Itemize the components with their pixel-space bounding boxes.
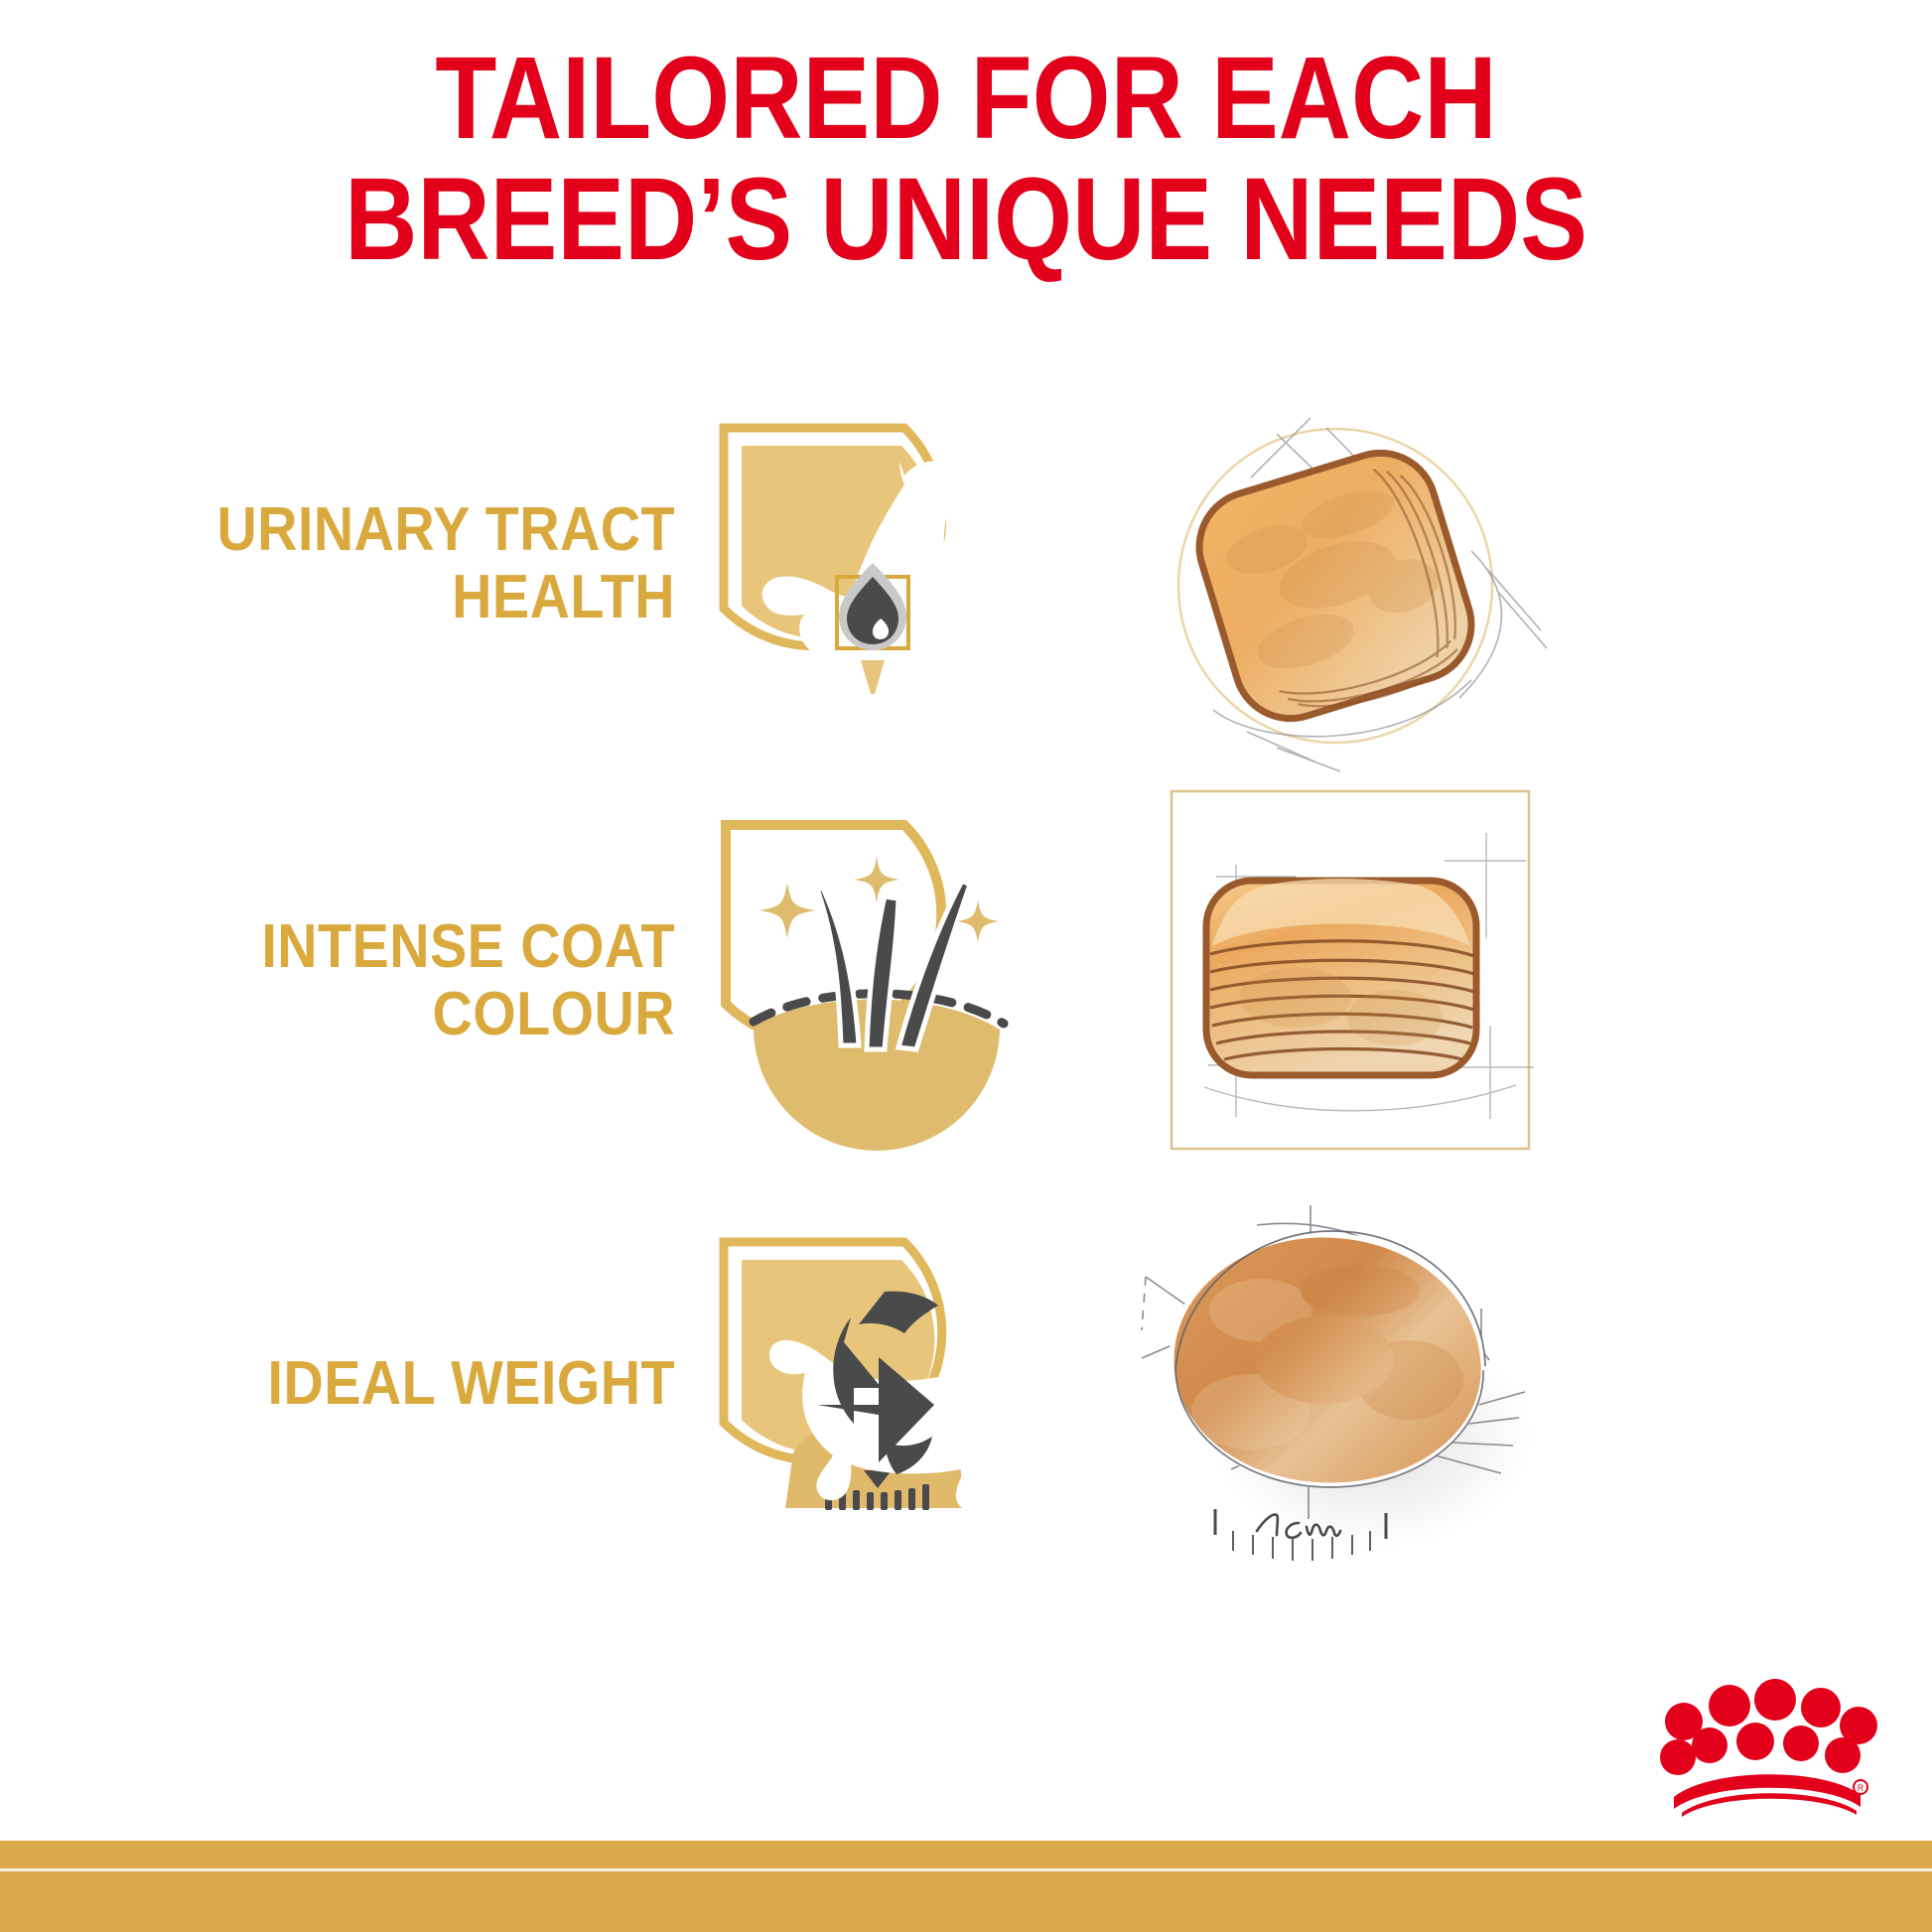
kibble-rotated-square xyxy=(1102,382,1569,779)
feature-label-line-2: COLOUR xyxy=(157,981,675,1048)
urinary-tract-health-icon xyxy=(710,414,1037,742)
feature-row-urinary-tract-health: URINARY TRACT HEALTH xyxy=(0,392,1932,745)
kibble-rounded-oval xyxy=(1112,1181,1579,1579)
poster-canvas: TAILORED FOR EACH BREED’S UNIQUE NEEDS U… xyxy=(0,0,1932,1932)
kibble-ridged-block xyxy=(1117,769,1584,1167)
svg-text:R: R xyxy=(1858,1783,1864,1793)
feature-row-ideal-weight: IDEAL WEIGHT xyxy=(0,1206,1932,1559)
page-title-line-2: BREED’S UNIQUE NEEDS xyxy=(135,159,1797,280)
registered-trademark-icon: R xyxy=(1854,1780,1867,1794)
page-title-line-1: TAILORED FOR EACH xyxy=(135,38,1797,159)
feature-label-line-2: HEALTH xyxy=(157,564,675,631)
ideal-weight-icon xyxy=(710,1228,1037,1556)
feature-label-ideal-weight: IDEAL WEIGHT xyxy=(157,1350,675,1418)
feature-label-line-1: URINARY TRACT xyxy=(157,496,675,564)
feature-label-line-1: IDEAL WEIGHT xyxy=(157,1350,675,1418)
page-title: TAILORED FOR EACH BREED’S UNIQUE NEEDS xyxy=(135,38,1797,280)
bar-hairline xyxy=(0,1868,1932,1871)
feature-label-urinary-tract-health: URINARY TRACT HEALTH xyxy=(157,496,675,631)
feature-row-intense-coat-colour: INTENSE COAT COLOUR xyxy=(0,799,1932,1152)
feature-list: URINARY TRACT HEALTH xyxy=(0,392,1932,1613)
intense-coat-colour-icon xyxy=(710,809,1037,1137)
bottom-gold-bar xyxy=(0,1841,1932,1932)
feature-label-line-1: INTENSE COAT xyxy=(157,913,675,981)
feature-label-intense-coat-colour: INTENSE COAT COLOUR xyxy=(157,913,675,1048)
royal-canin-crown-logo: R xyxy=(1662,1664,1870,1813)
